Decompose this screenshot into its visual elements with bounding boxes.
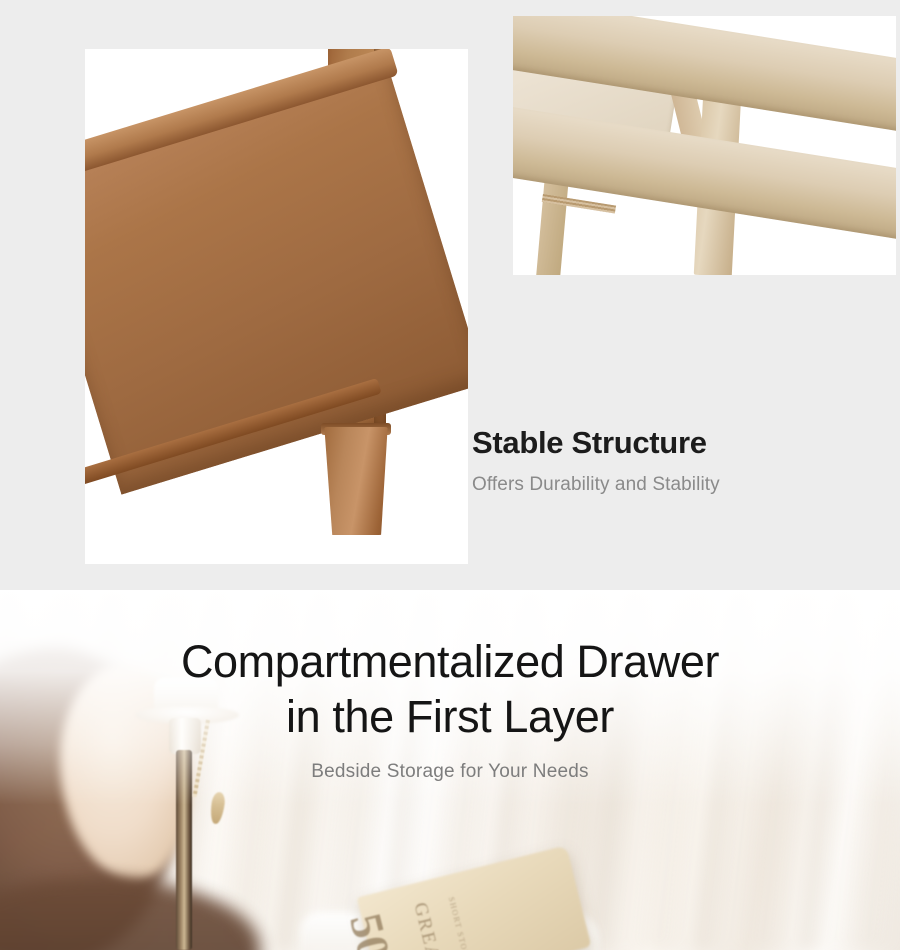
drawer-title-line-1: Compartmentalized Drawer: [181, 636, 719, 687]
structure-subtitle: Offers Durability and Stability: [472, 474, 872, 496]
walnut-bed-frame-leg-image: [85, 49, 468, 564]
drawer-caption: Compartmentalized Drawer in the First La…: [0, 635, 900, 783]
compartmentalized-drawer-section: 50 GREAT SHORT STORIES Compartmentalized…: [0, 590, 900, 950]
product-feature-page: Stable Structure Offers Durability and S…: [0, 0, 900, 950]
book-title-word: GREAT: [408, 900, 447, 950]
light-oak-slat-support-image: [513, 16, 896, 275]
structure-caption: Stable Structure Offers Durability and S…: [472, 425, 872, 496]
book-title-sub: SHORT STORIES: [447, 896, 475, 950]
bed-tapered-foot-shape: [323, 427, 389, 535]
drawer-subtitle: Bedside Storage for Your Needs: [0, 761, 900, 783]
structure-title: Stable Structure: [472, 425, 872, 461]
drawer-title: Compartmentalized Drawer in the First La…: [0, 635, 900, 745]
stable-structure-section: Stable Structure Offers Durability and S…: [0, 0, 900, 590]
drawer-title-line-2: in the First Layer: [286, 691, 614, 742]
